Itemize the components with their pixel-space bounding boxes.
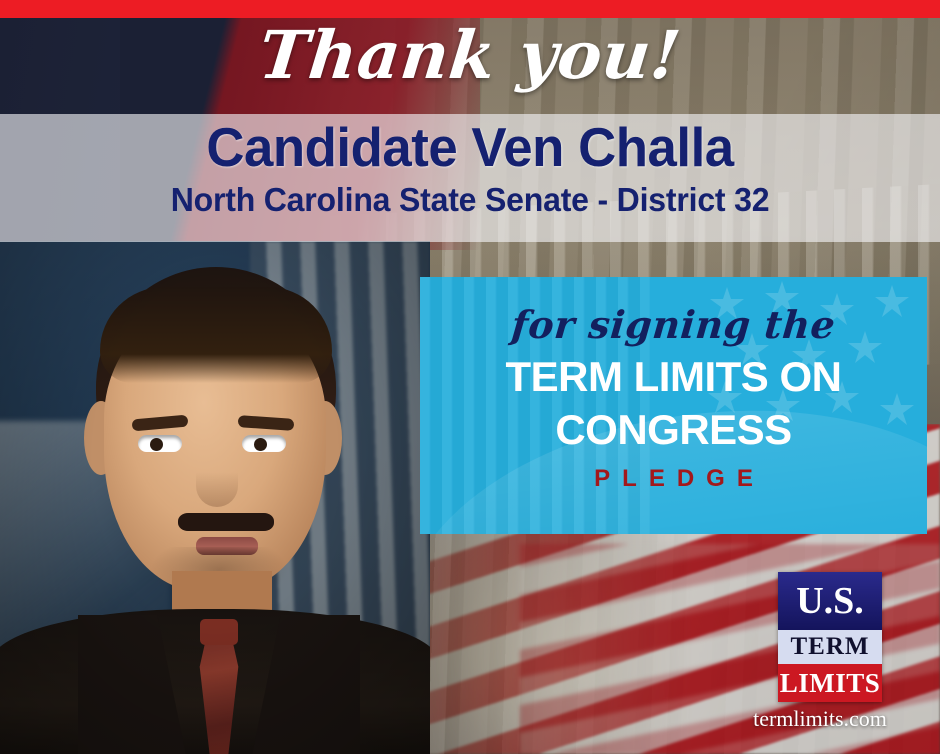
pledge-callout-box: for signing the TERM LIMITS ON CONGRESS … bbox=[420, 277, 927, 534]
logo-band-limits: LIMITS bbox=[778, 664, 882, 702]
pledge-title-line-1: TERM LIMITS ON bbox=[420, 353, 927, 400]
candidate-portrait-photo bbox=[0, 241, 430, 754]
pledge-for-signing-text: for signing the bbox=[420, 303, 927, 347]
pledge-word-label: PLEDGE bbox=[420, 465, 927, 493]
website-url[interactable]: termlimits.com bbox=[700, 706, 940, 732]
pledge-title-line-2: CONGRESS bbox=[420, 406, 927, 453]
candidate-office: North Carolina State Senate - District 3… bbox=[14, 180, 926, 220]
us-term-limits-logo[interactable]: U.S. TERM LIMITS bbox=[778, 572, 882, 702]
thank-you-headline: Thank you! bbox=[0, 22, 940, 88]
portrait-vignette bbox=[0, 241, 430, 754]
logo-band-us: U.S. bbox=[778, 572, 882, 630]
candidate-name: Candidate Ven Challa bbox=[19, 116, 921, 178]
logo-band-term: TERM bbox=[778, 630, 882, 664]
candidate-name-block: Candidate Ven Challa North Carolina Stat… bbox=[0, 116, 940, 220]
thank-you-poster: Thank you! Candidate Ven Challa North Ca… bbox=[0, 0, 940, 754]
pledge-text-group: for signing the TERM LIMITS ON CONGRESS … bbox=[420, 277, 927, 493]
